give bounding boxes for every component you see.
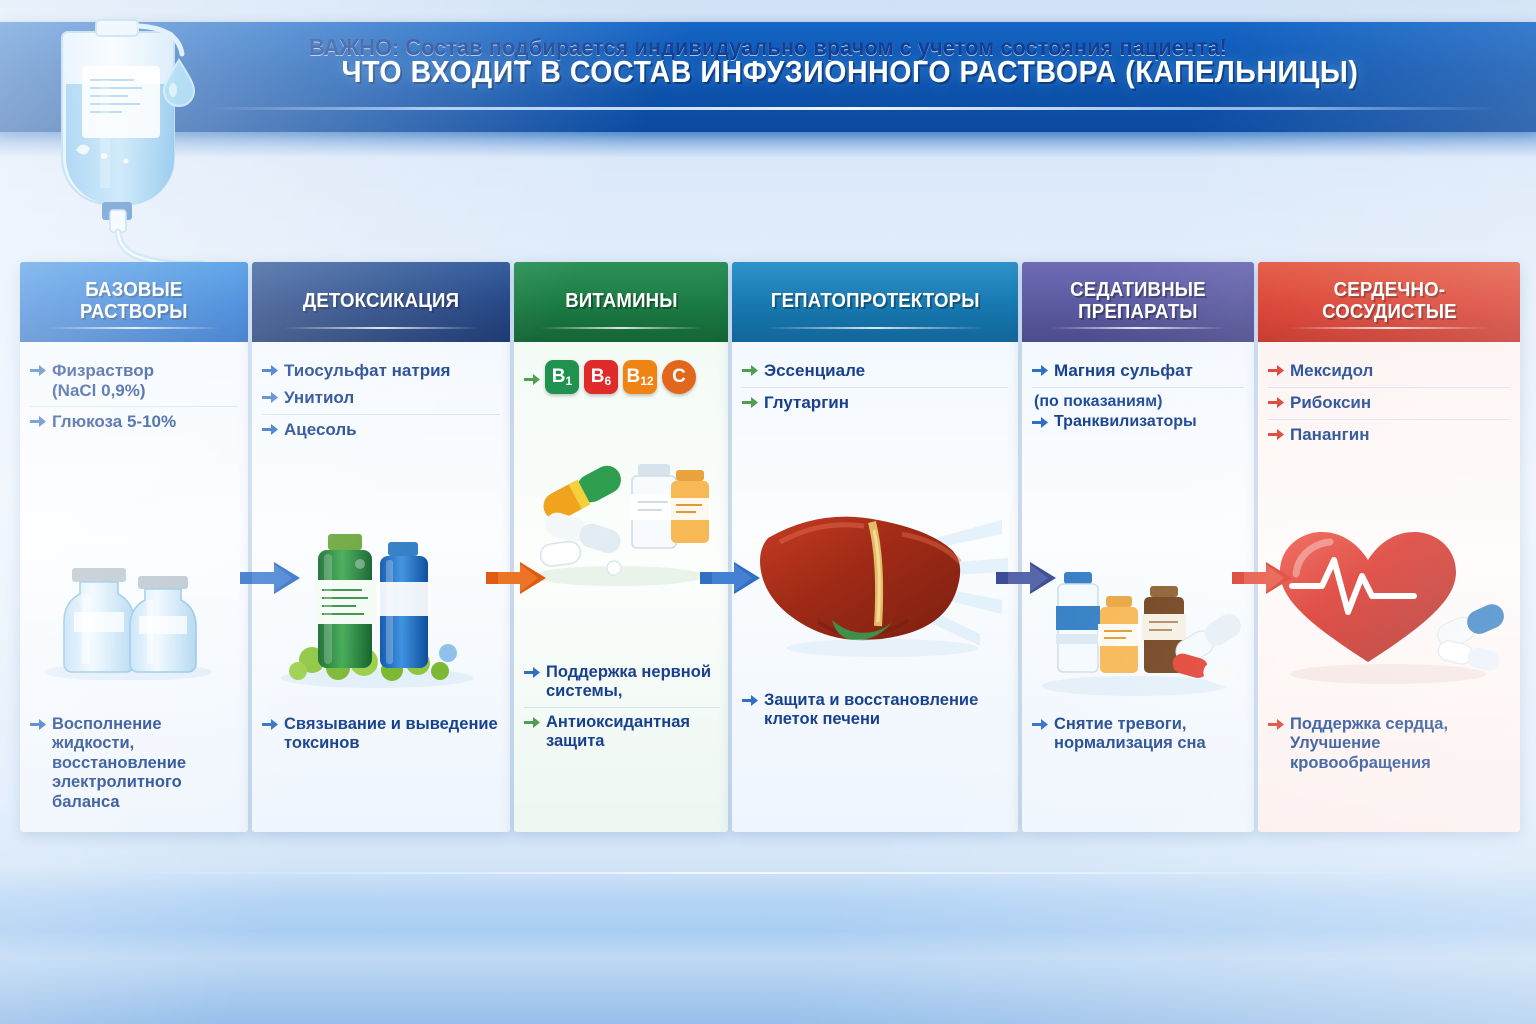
list-item-label: Унитиол — [284, 388, 354, 408]
heart-with-ecg-line-illustration — [1258, 522, 1520, 692]
arrow-blue-icon — [524, 666, 540, 684]
list-item[interactable]: Магния сульфат — [1032, 356, 1244, 387]
water-drop-icon — [160, 56, 198, 115]
outcome-row[interactable]: Восполнение жидкости, восстановление эле… — [30, 714, 240, 817]
column-header-hepatoprotectors: ГЕПАТОПРОТЕКТОРЫ — [732, 262, 1018, 342]
arrow-red-icon — [1268, 718, 1284, 736]
list-item-label: Мексидол — [1290, 361, 1373, 381]
item-list-base-solutions: Физраствор(NaCl 0,9%) Глюкоза 5-10% — [20, 342, 248, 438]
column-title-line1: СЕРДЕЧНО- — [1333, 279, 1445, 301]
column-title: ВИТАМИНЫ — [565, 291, 677, 313]
two-iv-bottles-illustration — [20, 550, 248, 680]
outcome-hepatoprotectors: Защита и восстановление клеток печени — [742, 690, 1010, 735]
column-title-line2: РАСТВОРЫ — [80, 301, 188, 323]
outcome-row[interactable]: Поддержка нервной системы, — [524, 662, 720, 707]
column-title-line2: ПРЕПАРАТЫ — [1078, 301, 1198, 323]
vitamin-badge-b1: B1 — [545, 360, 579, 394]
vitamin-badge-b6: B6 — [584, 360, 618, 394]
outcome-label: Поддержка нервной системы, — [546, 663, 720, 702]
arrow-blue-icon — [262, 364, 278, 382]
list-item[interactable]: Унитиол — [262, 387, 500, 414]
outcome-detox: Связывание и выведение токсинов — [262, 714, 502, 759]
item-list-detox: Тиосульфат натрия Унитиол Ацесоль — [252, 342, 510, 446]
column-body-hepatoprotectors: Эссенциале Глутаргин — [732, 342, 1018, 832]
arrow-green-icon — [524, 373, 540, 391]
column-base-solutions[interactable]: БАЗОВЫЕРАСТВОРЫ Физраствор(NaCl 0,9%) — [20, 262, 248, 832]
outcome-vitamins: Поддержка нервной системы, Антиоксидантн… — [524, 662, 720, 757]
arrow-blue-icon — [1032, 718, 1048, 736]
arrow-blue-icon — [262, 718, 278, 736]
green-and-blue-bottles-illustration — [252, 520, 510, 690]
column-title-line2: СОСУДИСТЫЕ — [1322, 301, 1457, 323]
list-item-label: Эссенциале — [764, 361, 865, 381]
list-item-label: Ацесоль — [284, 420, 357, 440]
category-columns: БАЗОВЫЕРАСТВОРЫ Физраствор(NaCl 0,9%) — [20, 262, 1520, 832]
outcome-label: Восполнение жидкости, восстановление эле… — [52, 715, 240, 812]
outcome-row[interactable]: Защита и восстановление клеток печени — [742, 690, 1010, 735]
list-item[interactable]: Эссенциале — [742, 356, 1008, 387]
column-header-base-solutions: БАЗОВЫЕРАСТВОРЫ — [20, 262, 248, 342]
column-title: ГЕПАТОПРОТЕКТОРЫ — [771, 291, 980, 313]
list-item[interactable]: Глюкоза 5-10% — [30, 406, 238, 438]
infographic-canvas: ЧТО ВХОДИТ В СОСТАВ ИНФУЗИОННОГО РАСТВОР… — [0, 0, 1536, 1024]
arrow-blue-icon — [30, 364, 46, 382]
arrow-blue-icon — [30, 415, 46, 433]
list-item-label: Физраствор(NaCl 0,9%) — [52, 361, 154, 401]
arrow-blue-icon — [1032, 364, 1048, 382]
list-item-label: Транквилизаторы — [1054, 413, 1197, 432]
flow-arrow-blue-2 — [700, 558, 762, 603]
arrow-blue-icon — [30, 718, 46, 736]
column-title-line1: СЕДАТИВНЫЕ — [1070, 279, 1206, 301]
column-body-cardiovascular: Мексидол Рибоксин Панангин — [1258, 342, 1520, 832]
list-item[interactable]: Тиосульфат натрия — [262, 356, 500, 387]
column-header-sedatives: СЕДАТИВНЫЕПРЕПАРАТЫ — [1022, 262, 1254, 342]
flow-arrow-navy — [996, 558, 1058, 603]
column-vitamins[interactable]: ВИТАМИНЫ B1 B6 B12 — [514, 262, 728, 832]
item-list-sedatives: Магния сульфат (по показаниям) Транквили… — [1022, 342, 1254, 439]
vitamin-badge-c: C — [662, 360, 696, 394]
list-item-label: Тиосульфат натрия — [284, 361, 450, 381]
column-title-line1: БАЗОВЫЕ — [85, 279, 182, 301]
column-hepatoprotectors[interactable]: ГЕПАТОПРОТЕКТОРЫ Эссенциале Глутаргин — [732, 262, 1018, 832]
outcome-sedatives: Снятие тревоги, нормализация сна — [1032, 714, 1246, 759]
outcome-base-solutions: Восполнение жидкости, восстановление эле… — [30, 714, 240, 817]
footer-banner — [0, 866, 1536, 966]
column-cardiovascular[interactable]: СЕРДЕЧНО-СОСУДИСТЫЕ Мексидол Рибоксин — [1258, 262, 1520, 832]
column-title: ДЕТОКСИКАЦИЯ — [303, 291, 459, 313]
list-item-label: Глюкоза 5-10% — [52, 412, 176, 432]
outcome-row[interactable]: Антиоксидантная защита — [524, 707, 720, 757]
column-body-base-solutions: Физраствор(NaCl 0,9%) Глюкоза 5-10% — [20, 342, 248, 832]
flow-arrow-red — [1232, 558, 1294, 603]
column-header-vitamins: ВИТАМИНЫ — [514, 262, 728, 342]
arrow-blue-icon — [262, 423, 278, 441]
arrow-red-icon — [1268, 396, 1284, 414]
list-item[interactable]: Глутаргин — [742, 387, 1008, 419]
arrow-blue-icon — [1032, 416, 1048, 434]
item-list-hepatoprotectors: Эссенциале Глутаргин — [732, 342, 1018, 419]
bottom-gradient — [0, 960, 1536, 1024]
column-header-detox: ДЕТОКСИКАЦИЯ — [252, 262, 510, 342]
outcome-label: Снятие тревоги, нормализация сна — [1054, 715, 1246, 754]
arrow-red-icon — [1268, 428, 1284, 446]
arrow-red-icon — [1268, 364, 1284, 382]
note-row: (по показаниям) — [1032, 387, 1244, 412]
list-item-label: Глутаргин — [764, 393, 849, 413]
outcome-row[interactable]: Поддержка сердца, Улучшение кровообращен… — [1268, 714, 1512, 778]
outcome-row[interactable]: Снятие тревоги, нормализация сна — [1032, 714, 1246, 759]
outcome-label: Защита и восстановление клеток печени — [764, 691, 1010, 730]
vitamin-badge-b12: B12 — [623, 360, 657, 394]
column-sedatives[interactable]: СЕДАТИВНЫЕПРЕПАРАТЫ Магния сульфат (по п… — [1022, 262, 1254, 832]
outcome-label: Связывание и выведение токсинов — [284, 715, 502, 754]
column-header-cardiovascular: СЕРДЕЧНО-СОСУДИСТЫЕ — [1258, 262, 1520, 342]
liver-illustration — [732, 482, 1018, 662]
list-item[interactable]: Панангин — [1268, 419, 1510, 451]
list-item-label: Рибоксин — [1290, 393, 1371, 413]
arrow-blue-icon — [262, 391, 278, 409]
arrow-green-icon — [742, 364, 758, 382]
flow-arrow-blue-1 — [240, 558, 302, 603]
outcome-label: Поддержка сердца, Улучшение кровообращен… — [1290, 715, 1512, 773]
outcome-row[interactable]: Связывание и выведение токсинов — [262, 714, 502, 759]
outcome-label: Антиоксидантная защита — [546, 713, 720, 752]
column-detox[interactable]: ДЕТОКСИКАЦИЯ Тиосульфат натрия Унитиол — [252, 262, 510, 832]
list-item[interactable]: Рибоксин — [1268, 387, 1510, 419]
arrow-green-icon — [524, 716, 540, 734]
banner-shadow-band — [0, 132, 1536, 158]
arrow-green-icon — [742, 396, 758, 414]
outcome-cardiovascular: Поддержка сердца, Улучшение кровообращен… — [1268, 714, 1512, 778]
list-item[interactable]: Транквилизаторы — [1032, 412, 1244, 439]
list-item[interactable]: Мексидол — [1268, 356, 1510, 387]
arrow-blue-icon — [742, 694, 758, 712]
item-list-vitamins: B1 B6 B12 C — [514, 342, 728, 396]
vitamin-badge-row: B1 B6 B12 C — [524, 356, 718, 396]
list-item-label: Панангин — [1290, 425, 1369, 445]
footer-divider — [120, 872, 1416, 874]
list-item[interactable]: Физраствор(NaCl 0,9%) — [30, 356, 238, 406]
note-label: (по показаниям) — [1034, 393, 1162, 412]
list-item-label: Магния сульфат — [1054, 361, 1193, 381]
important-note: ВАЖНО: Состав подбирается индивидуально … — [38, 34, 1497, 61]
flow-arrow-orange — [486, 558, 548, 603]
list-item[interactable]: Ацесоль — [262, 414, 500, 446]
item-list-cardiovascular: Мексидол Рибоксин Панангин — [1258, 342, 1520, 451]
